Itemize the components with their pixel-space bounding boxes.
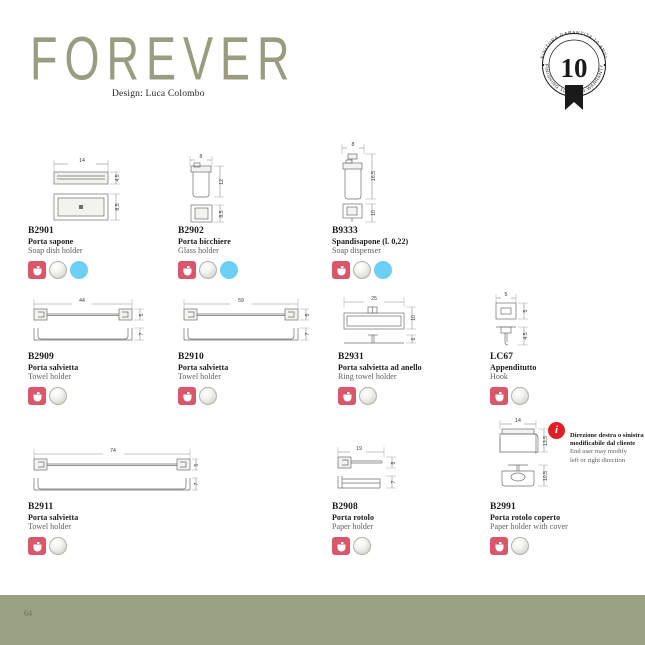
product-code: B2902 (178, 226, 318, 236)
product-drawing-b2931: 25 10 6 (338, 295, 478, 350)
dim-depth: 7 (139, 332, 145, 335)
swatch-special-finish[interactable] (490, 387, 508, 405)
swatch-blue-finish[interactable] (374, 261, 392, 279)
swatch-special-finish[interactable] (178, 387, 196, 405)
dim-width: 5 (505, 292, 508, 298)
finish-swatches (28, 387, 168, 405)
dim-depth: 6 (411, 337, 417, 340)
product-name-en: Towel holder (28, 522, 208, 531)
dim-width: 19 (356, 446, 362, 452)
swatch-chrome-finish[interactable] (49, 261, 67, 279)
page-number: 64 (24, 609, 32, 618)
callout-line-en-2: left or right direction (570, 457, 644, 465)
dim-width: 8 (352, 142, 355, 148)
finish-swatches (338, 387, 478, 405)
dim-width: 74 (110, 448, 116, 454)
dim-width: 14 (515, 418, 521, 424)
product-name-it: Porta bicchiere (178, 237, 318, 246)
designer-credit: Design: Luca Colombo (112, 89, 205, 99)
product-name-it: Porta salvietta (28, 513, 208, 522)
info-callout: i Direzione destra o sinistra modificabi… (548, 422, 644, 465)
dim-height: 5 (523, 309, 529, 312)
swatch-blue-finish[interactable] (220, 261, 238, 279)
dim-width: 14 (79, 158, 85, 164)
dim-depth: 10 (371, 210, 377, 216)
callout-line-en-1: End user may modify (570, 448, 644, 456)
page-title: FOREVER (30, 28, 297, 89)
callout-line-it-2: modificabile dal cliente (570, 440, 644, 448)
dim-width: 59 (238, 298, 244, 304)
swatch-special-finish[interactable] (490, 537, 508, 555)
product-drawing-b2909: 44 5 7 (28, 295, 168, 350)
info-icon: i (548, 422, 565, 439)
product-drawing-b2911: 74 5 7 (28, 445, 208, 500)
product-code: B9333 (332, 226, 482, 236)
product-name-en: Paper holder (332, 522, 472, 531)
product-card[interactable]: 14 13,5 10,5 (490, 418, 640, 555)
product-code: B2901 (28, 226, 168, 236)
product-code: B2908 (332, 502, 472, 512)
swatch-chrome-finish[interactable] (199, 387, 217, 405)
dim-height: 16,5 (371, 171, 377, 181)
swatch-special-finish[interactable] (28, 537, 46, 555)
finish-swatches (28, 537, 208, 555)
swatch-chrome-finish[interactable] (353, 537, 371, 555)
product-card[interactable]: 8 16,5 10 B9333 Span (332, 142, 482, 279)
product-drawing-b2902: 8 12 8,5 (178, 152, 318, 224)
dim-height: 5 (139, 313, 145, 316)
seal-number: 10 (561, 53, 588, 83)
product-code: LC67 (490, 352, 620, 362)
product-drawing-b9333: 8 16,5 10 (332, 142, 482, 224)
dim-depth: 4,5 (523, 332, 529, 339)
swatch-blue-finish[interactable] (70, 261, 88, 279)
product-drawing-b2991: 14 13,5 10,5 (490, 418, 640, 500)
product-code: B2911 (28, 502, 208, 512)
page-footer: 64 (0, 595, 645, 645)
product-grid: 14 4,5 8,5 B2901 Porta sapone (0, 130, 645, 585)
dim-depth: 7 (391, 480, 397, 483)
product-drawing-b2901: 14 4,5 8,5 (28, 152, 168, 224)
finish-swatches (490, 537, 640, 555)
dim-height: 5 (305, 313, 310, 316)
swatch-chrome-finish[interactable] (353, 261, 371, 279)
product-card[interactable]: 8 12 8,5 B2902 Porta bicchiere Glass hol… (178, 152, 318, 279)
product-name-it: Spandisapone (l. 0,22) (332, 237, 482, 246)
swatch-chrome-finish[interactable] (49, 537, 67, 555)
swatch-special-finish[interactable] (332, 261, 350, 279)
product-name-en: Soap dispenser (332, 246, 482, 255)
callout-line-it-1: Direzione destra o sinistra (570, 432, 644, 440)
swatch-special-finish[interactable] (28, 261, 46, 279)
product-card[interactable]: 59 5 7 B2910 Porta salvietta Towel (178, 295, 328, 405)
product-card[interactable]: 5 5 4,5 LC67 Appenditutto Hook (490, 292, 620, 405)
swatch-chrome-finish[interactable] (511, 537, 529, 555)
product-name-it: Porta salvietta (178, 363, 328, 372)
finish-swatches (332, 537, 472, 555)
product-name-en: Soap dish holder (28, 246, 168, 255)
page-header: FOREVER Design: Luca Colombo FINITURA GA… (0, 0, 645, 130)
product-name-it: Appenditutto (490, 363, 620, 372)
product-code: B2931 (338, 352, 478, 362)
product-name-en: Hook (490, 372, 620, 381)
finish-swatches (490, 387, 620, 405)
swatch-special-finish[interactable] (338, 387, 356, 405)
product-name-it: Porta rotolo coperto (490, 513, 640, 522)
product-drawing-b2910: 59 5 7 (178, 295, 328, 350)
product-name-it: Porta rotolo (332, 513, 472, 522)
swatch-special-finish[interactable] (28, 387, 46, 405)
product-name-it: Porta sapone (28, 237, 168, 246)
product-name-en: Ring towel holder (338, 372, 478, 381)
dim-depth: 8,5 (219, 210, 225, 217)
product-code: B2909 (28, 352, 168, 362)
dim-height: 10 (411, 315, 417, 321)
finish-swatches (332, 261, 482, 279)
product-card[interactable]: 14 4,5 8,5 B2901 Porta sapone (28, 152, 168, 279)
warranty-seal-icon: FINITURA GARANTITA 10 ANNI FINISHING 10 … (531, 25, 617, 113)
product-code: B2991 (490, 502, 640, 512)
product-drawing-lc67: 5 5 4,5 (490, 292, 620, 350)
dim-height: 4,5 (115, 174, 121, 181)
finish-swatches (28, 261, 168, 279)
dim-height: 5 (391, 461, 397, 464)
swatch-special-finish[interactable] (332, 537, 350, 555)
product-name-en: Paper holder with cover (490, 522, 640, 531)
finish-swatches (178, 261, 318, 279)
swatch-chrome-finish[interactable] (359, 387, 377, 405)
swatch-special-finish[interactable] (178, 261, 196, 279)
dim-depth: 8,5 (115, 203, 121, 210)
product-drawing-b2908: 19 5 7 (332, 445, 472, 500)
product-card[interactable]: 44 5 7 B2909 Porta s (28, 295, 168, 405)
product-code: B2910 (178, 352, 328, 362)
dim-depth: 7 (305, 332, 310, 335)
product-card[interactable]: 25 10 6 B2931 Porta (338, 295, 478, 405)
dim-width: 8 (200, 154, 203, 160)
dim-depth: 10,5 (543, 471, 549, 481)
swatch-chrome-finish[interactable] (49, 387, 67, 405)
dim-width: 25 (371, 296, 377, 302)
product-card[interactable]: 19 5 7 B2908 Porta r (332, 445, 472, 555)
product-name-en: Towel holder (28, 372, 168, 381)
dim-height: 12 (219, 179, 225, 185)
swatch-chrome-finish[interactable] (199, 261, 217, 279)
product-card[interactable]: 74 5 7 B2911 Porta salvietta Towel (28, 445, 208, 555)
product-name-en: Towel holder (178, 372, 328, 381)
dim-width: 44 (79, 298, 85, 304)
product-name-it: Porta salvietta (28, 363, 168, 372)
dim-height: 5 (194, 463, 198, 466)
product-name-en: Glass holder (178, 246, 318, 255)
finish-swatches (178, 387, 328, 405)
swatch-chrome-finish[interactable] (511, 387, 529, 405)
dim-depth: 7 (194, 482, 198, 485)
product-name-it: Porta salvietta ad anello (338, 363, 478, 372)
